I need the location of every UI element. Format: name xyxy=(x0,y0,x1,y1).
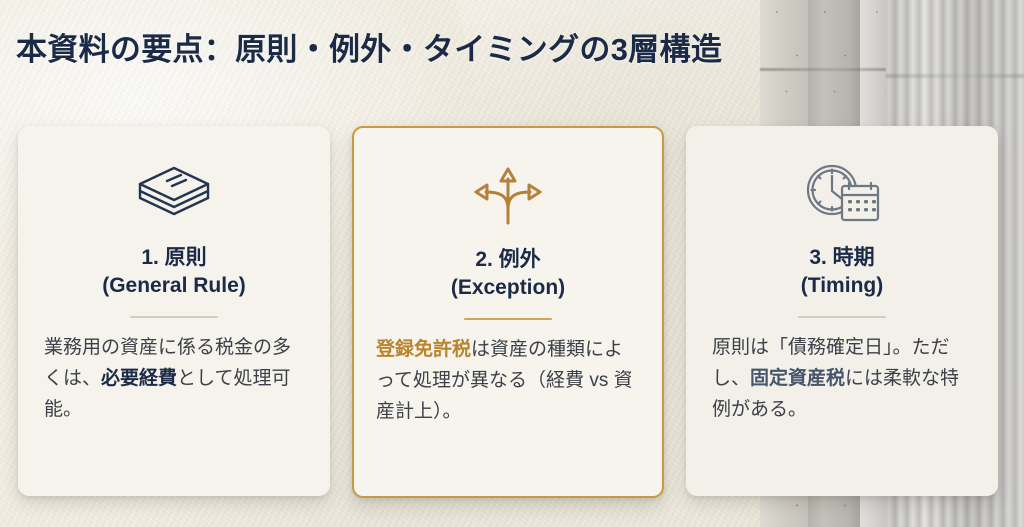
stacked-papers-icon xyxy=(135,158,213,230)
card-body: 原則は「債務確定日」。ただし、固定資産税には柔軟な特例がある。 xyxy=(686,333,998,425)
card-divider xyxy=(798,316,886,318)
card-divider xyxy=(130,316,218,318)
card-timing[interactable]: 3. 時期 (Timing) 原則は「債務確定日」。ただし、固定資産税には柔軟な… xyxy=(686,126,998,496)
body-keyword: 登録免許税 xyxy=(376,339,471,360)
card-body: 登録免許税は資産の種類によって処理が異なる（経費 vs 資産計上）。 xyxy=(354,335,662,427)
card-heading-en: (General Rule) xyxy=(102,272,246,300)
body-keyword: 必要経費 xyxy=(101,368,177,389)
card-heading: 3. 時期 (Timing) xyxy=(801,244,883,300)
card-heading: 1. 原則 (General Rule) xyxy=(102,244,246,300)
card-heading-en: (Timing) xyxy=(801,272,883,300)
card-divider xyxy=(464,318,552,320)
clock-calendar-icon xyxy=(802,158,882,230)
card-body: 業務用の資産に係る税金の多くは、必要経費として処理可能。 xyxy=(18,333,330,425)
card-heading-en: (Exception) xyxy=(451,274,565,302)
card-heading-jp: 1. 原則 xyxy=(141,246,206,269)
slide-title: 本資料の要点：原則・例外・タイミングの3層構造 xyxy=(16,24,722,69)
card-heading-jp: 3. 時期 xyxy=(809,246,874,269)
card-general-rule[interactable]: 1. 原則 (General Rule) 業務用の資産に係る税金の多くは、必要経… xyxy=(18,126,330,496)
card-heading-jp: 2. 例外 xyxy=(475,248,540,271)
body-keyword: 固定資産税 xyxy=(750,368,845,389)
card-heading: 2. 例外 (Exception) xyxy=(451,246,565,302)
three-way-arrow-icon xyxy=(472,160,544,232)
card-exception[interactable]: 2. 例外 (Exception) 登録免許税は資産の種類によって処理が異なる（… xyxy=(352,126,664,498)
